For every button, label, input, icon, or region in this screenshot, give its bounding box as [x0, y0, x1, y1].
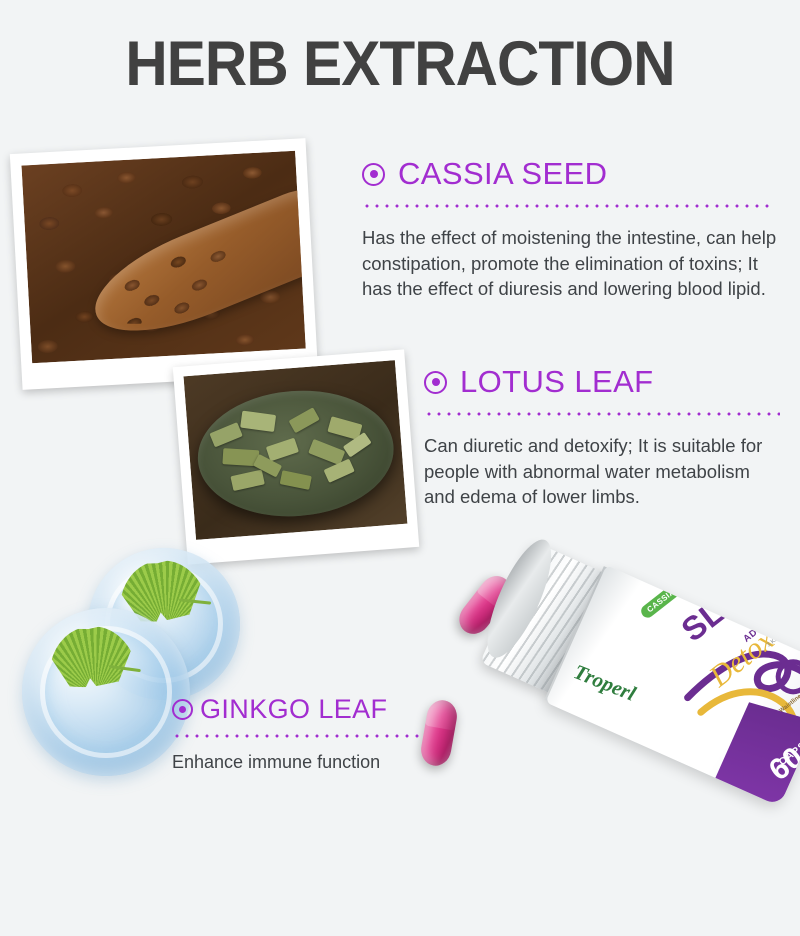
- ginkgo-fan-bottom: [44, 622, 138, 691]
- product-tagline: ADVANCED WEIGHT CONTROL: [741, 565, 800, 645]
- section-title: GINKGO LEAF: [200, 694, 387, 725]
- target-ring-icon: [362, 163, 385, 186]
- product-fine-print: 3 Kinds of slimming ingredients Help los…: [765, 565, 800, 650]
- section-body: Enhance immune function: [172, 750, 440, 776]
- section-ginkgo-leaf: GINKGO LEAF Enhance immune function: [172, 694, 440, 776]
- lotus-leaf-photo: [173, 349, 420, 564]
- section-body: Can diuretic and detoxify; It is suitabl…: [424, 433, 782, 510]
- target-ring-icon: [172, 699, 193, 720]
- section-header: LOTUS LEAF: [424, 364, 782, 400]
- dotted-divider: [172, 734, 422, 738]
- badge-lotus-leaf: LOTUS LEAF: [698, 565, 760, 574]
- dotted-divider: [362, 204, 772, 208]
- cassia-seed-image: [21, 151, 305, 364]
- brand-name: Troperl: [570, 659, 639, 706]
- section-header: CASSIA SEED: [362, 156, 777, 192]
- ginkgo-leaf-icon-bottom: [44, 621, 147, 703]
- section-lotus-leaf: LOTUS LEAF Can diuretic and detoxify; It…: [424, 364, 782, 510]
- section-title: CASSIA SEED: [398, 156, 607, 192]
- section-title: LOTUS LEAF: [460, 364, 654, 400]
- target-ring-icon: [424, 371, 447, 394]
- product-bottle: Troperl CASSIA SEEDLOTUS LEAF SLIMMING D…: [418, 527, 800, 935]
- lotus-leaf-image: [183, 360, 407, 540]
- cassia-seed-photo: [10, 138, 318, 390]
- page-title: HERB EXTRACTION: [28, 28, 772, 100]
- section-cassia-seed: CASSIA SEED Has the effect of moistening…: [362, 156, 777, 302]
- section-header: GINKGO LEAF: [172, 694, 440, 725]
- section-body: Has the effect of moistening the intesti…: [362, 225, 777, 302]
- dotted-divider: [424, 412, 780, 416]
- infographic-canvas: HERB EXTRACTION: [0, 0, 800, 800]
- dried-leaf-pieces: [205, 398, 386, 509]
